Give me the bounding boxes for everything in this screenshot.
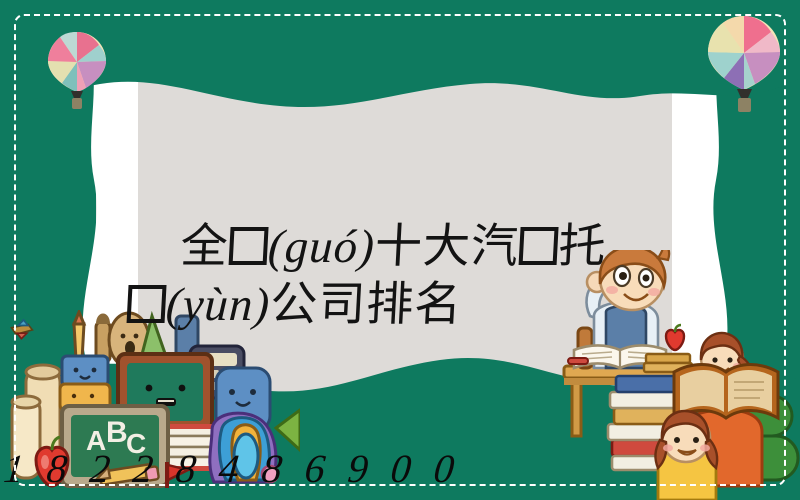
pinyin-guo: (guó) — [267, 221, 377, 273]
missing-glyph-box — [229, 227, 269, 265]
headline-seg-gongsipaiming: 公司排名 — [269, 279, 464, 331]
headline-char-tuo: 托 — [557, 221, 608, 273]
headline-seg-shidaqi: 十大汽 — [374, 221, 521, 273]
headline-char-quan: 全 — [179, 221, 230, 273]
pinyin-yun: (yùn) — [165, 279, 272, 331]
poster-canvas: 全(guó)十大汽托(yùn)公司排名 18228486900 — [0, 0, 800, 500]
missing-glyph-box — [127, 285, 167, 323]
phone-number: 18228486900 — [2, 445, 480, 492]
headline-text: 全(guó)十大汽托(yùn)公司排名 — [122, 160, 694, 392]
missing-glyph-box — [519, 227, 559, 265]
wave-trim-top — [0, 0, 800, 120]
